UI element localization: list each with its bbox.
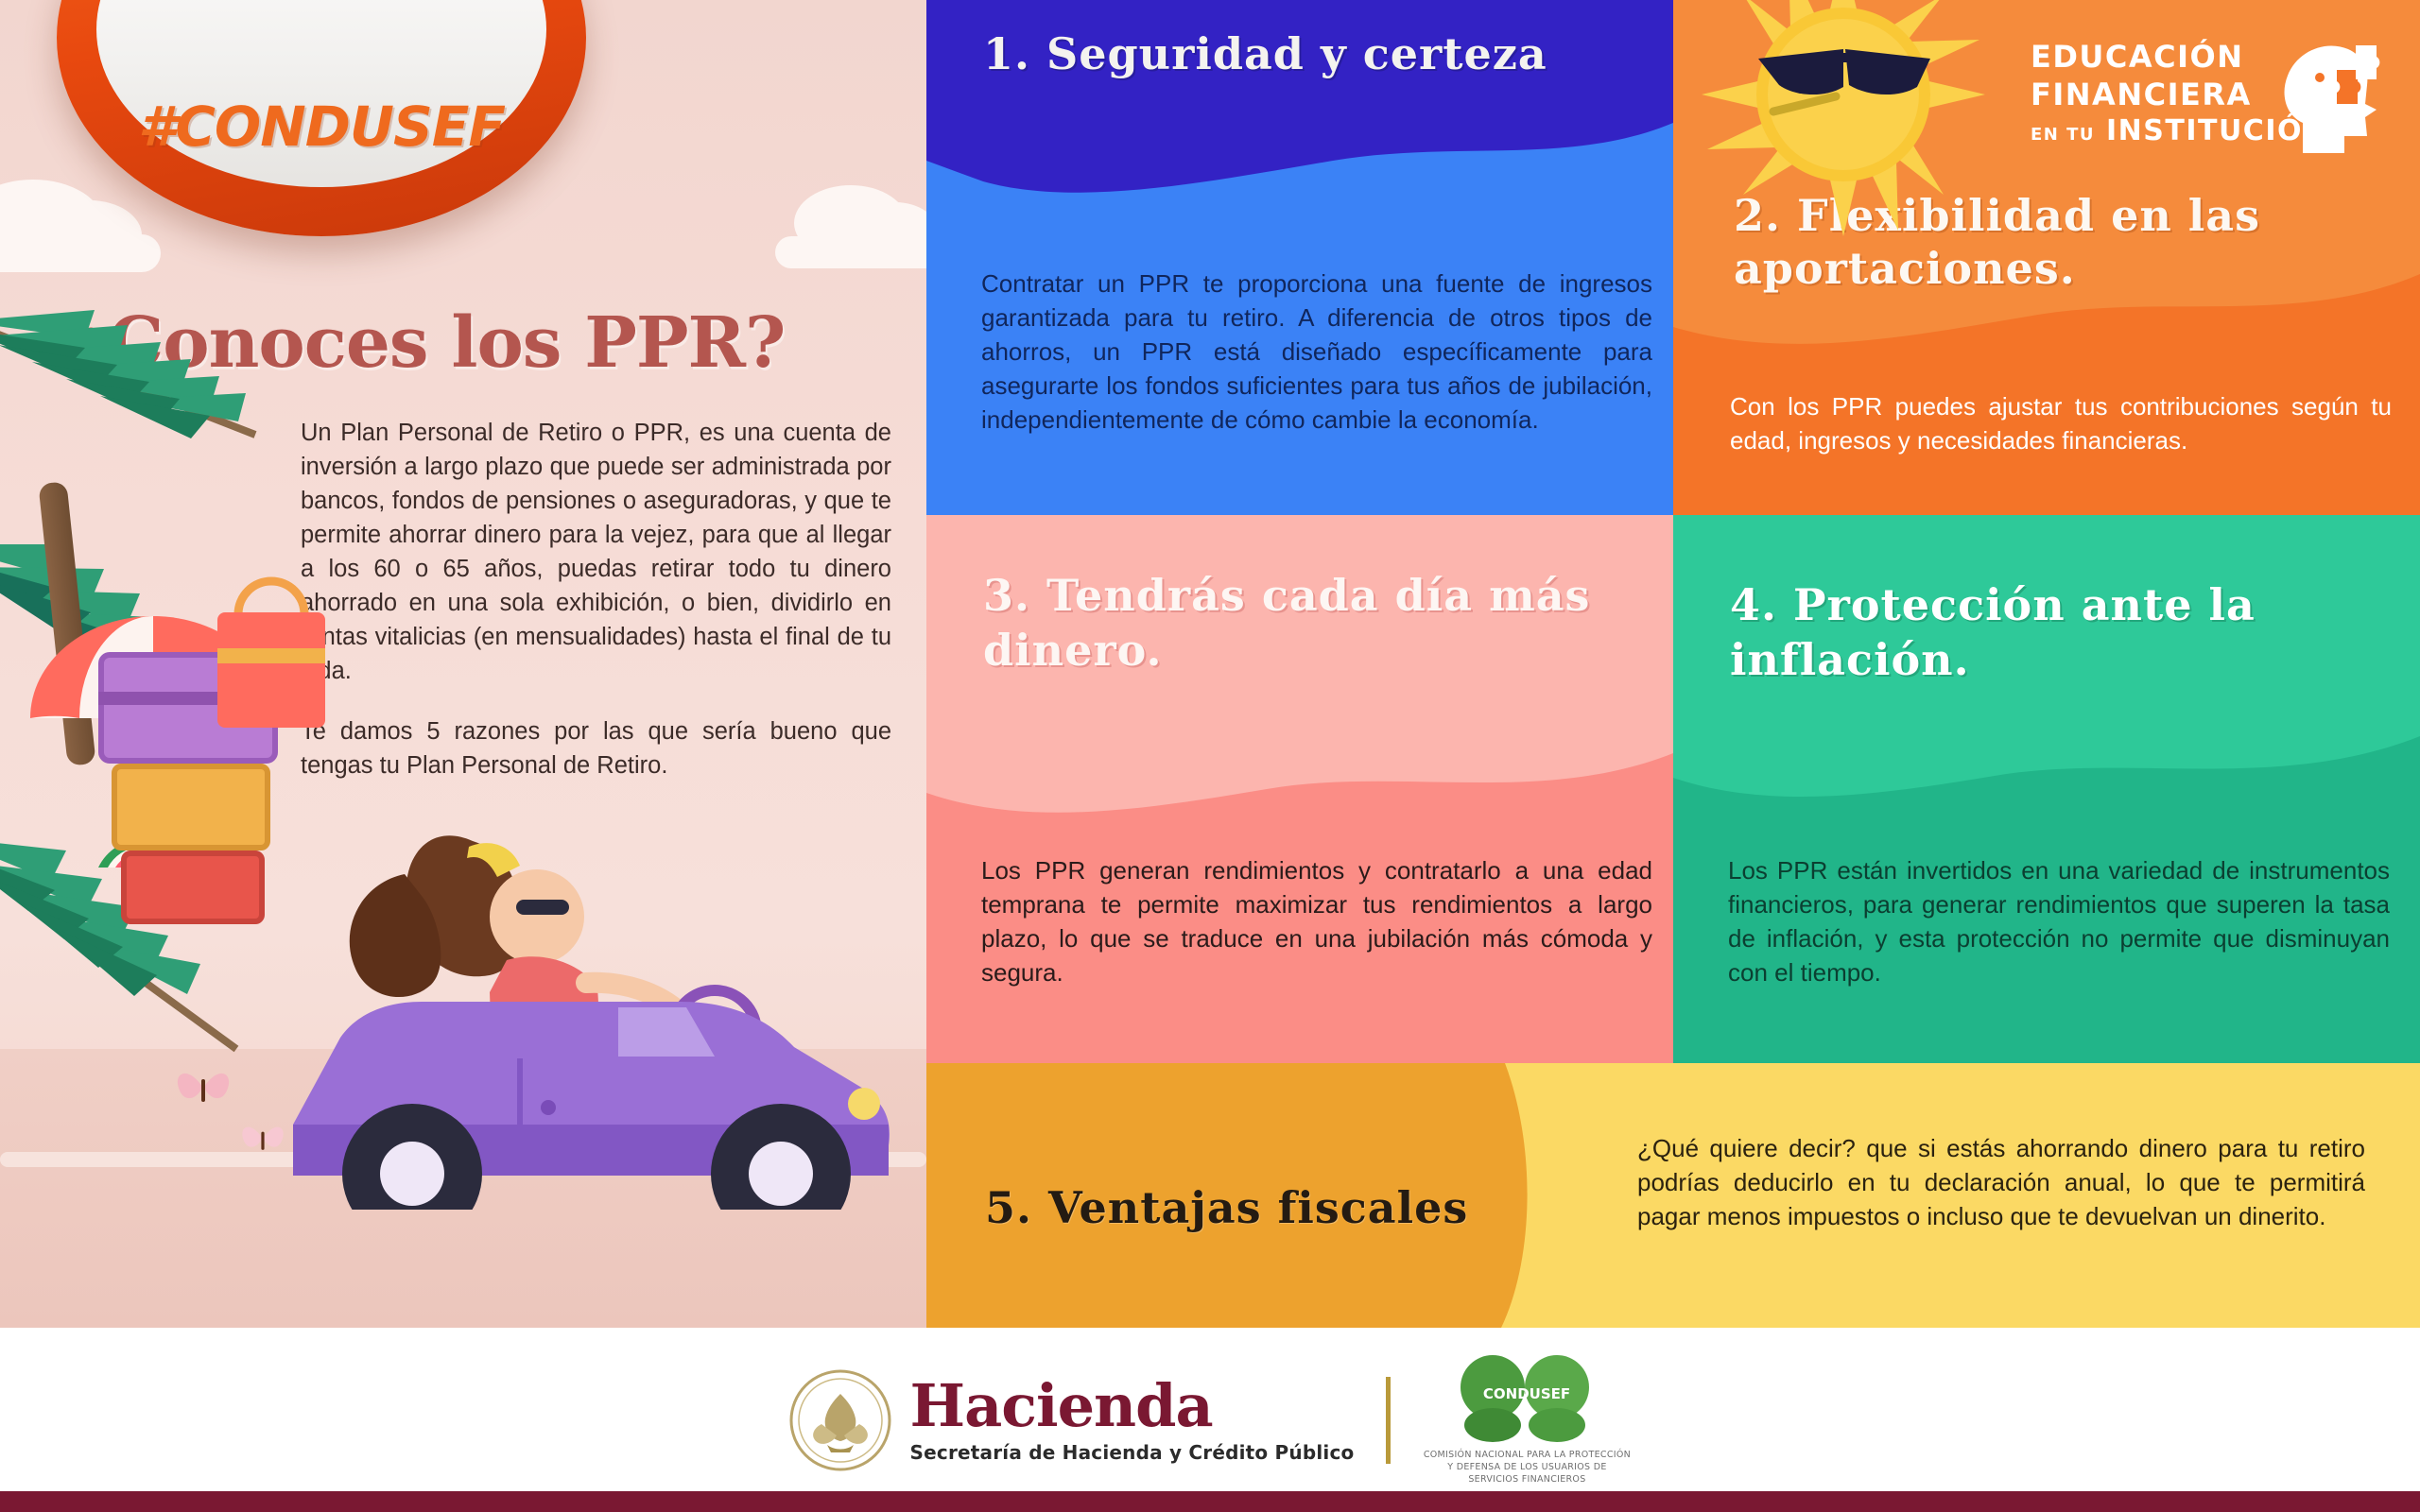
panel-seguridad-y-certeza: 1. Seguridad y certeza Contratar un PPR … <box>926 0 1673 515</box>
panel-3-title: 3. Tendrás cada día más dinero. <box>983 568 1626 678</box>
edu-logo-line-2: FINANCIERA <box>2031 79 2252 110</box>
panel-proteccion-inflacion: 4. Protección ante la inflación. Los PPR… <box>1673 515 2420 1063</box>
panel-2-body: Con los PPR puedes ajustar tus contribuc… <box>1730 389 2392 457</box>
condusef-badge: #CONDUSEF <box>57 0 586 236</box>
left-intro-column: #CONDUSEF ¿Conoces los PPR? Un Plan Pers… <box>0 0 926 1328</box>
infographic-poster: #CONDUSEF ¿Conoces los PPR? Un Plan Pers… <box>0 0 2420 1512</box>
sun-with-sunglasses-icon <box>1692 0 1995 246</box>
condusef-mark-icon: CONDUSEF <box>1442 1353 1612 1444</box>
condusef-logo: CONDUSEF COMISIÓN NACIONAL PARA LA PROTE… <box>1423 1353 1631 1486</box>
footer-logos: Hacienda Secretaría de Hacienda y Crédit… <box>0 1328 2420 1512</box>
cloud-shape <box>0 234 161 272</box>
mexican-eagle-seal-icon <box>789 1369 891 1471</box>
panel-ventajas-fiscales-detail: ¿Qué quiere decir? que si estás ahorrand… <box>1579 1063 2420 1328</box>
panel-5-body: ¿Qué quiere decir? que si estás ahorrand… <box>1637 1131 2365 1233</box>
panel-1-title: 1. Seguridad y certeza <box>983 28 1635 79</box>
head-with-puzzle-icon <box>2274 32 2388 155</box>
hacienda-subtitle: Secretaría de Hacienda y Crédito Público <box>910 1441 1355 1464</box>
panel-flexibilidad-aportaciones: EDUCACIÓN FINANCIERA EN TU INSTITUCIÓN 2… <box>1673 0 2420 515</box>
hashtag-label: #CONDUSEF <box>138 94 505 159</box>
convertible-car-illustration <box>236 680 917 1210</box>
butterfly-icon <box>236 1115 289 1160</box>
edu-logo-line-1: EDUCACIÓN <box>2031 42 2244 72</box>
footer-inner: Hacienda Secretaría de Hacienda y Crédit… <box>789 1353 1632 1486</box>
edu-logo-line-3-small: EN TU <box>2031 125 2095 145</box>
beach-illustration <box>0 397 926 1328</box>
panel-5-title: 5. Ventajas fiscales <box>985 1182 1571 1233</box>
butterfly-icon <box>170 1058 236 1115</box>
panel-4-body: Los PPR están invertidos en una variedad… <box>1728 853 2390 989</box>
panel-3-body: Los PPR generan rendimientos y contratar… <box>981 853 1652 989</box>
educacion-financiera-logo: EDUCACIÓN FINANCIERA EN TU INSTITUCIÓN <box>2031 38 2380 151</box>
condusef-caption: COMISIÓN NACIONAL PARA LA PROTECCIÓN Y D… <box>1423 1450 1631 1486</box>
hacienda-logo: Hacienda Secretaría de Hacienda y Crédit… <box>789 1369 1355 1471</box>
benefits-grid: 1. Seguridad y certeza Contratar un PPR … <box>926 0 2420 1328</box>
panel-3-blob <box>926 515 1673 850</box>
panel-4-title: 4. Protección ante la inflación. <box>1730 577 2373 687</box>
hacienda-text: Hacienda Secretaría de Hacienda y Crédit… <box>910 1377 1355 1464</box>
condusef-wordmark: CONDUSEF <box>1483 1385 1570 1402</box>
panel-tendras-mas-dinero: 3. Tendrás cada día más dinero. Los PPR … <box>926 515 1673 1063</box>
cloud-shape <box>775 236 926 268</box>
hacienda-title: Hacienda <box>910 1377 1355 1435</box>
panel-ventajas-fiscales: 5. Ventajas fiscales <box>926 1063 1579 1328</box>
bottom-accent-bar <box>0 1491 2420 1512</box>
panel-1-body: Contratar un PPR te proporciona una fuen… <box>981 266 1652 437</box>
footer-divider <box>1386 1377 1391 1464</box>
